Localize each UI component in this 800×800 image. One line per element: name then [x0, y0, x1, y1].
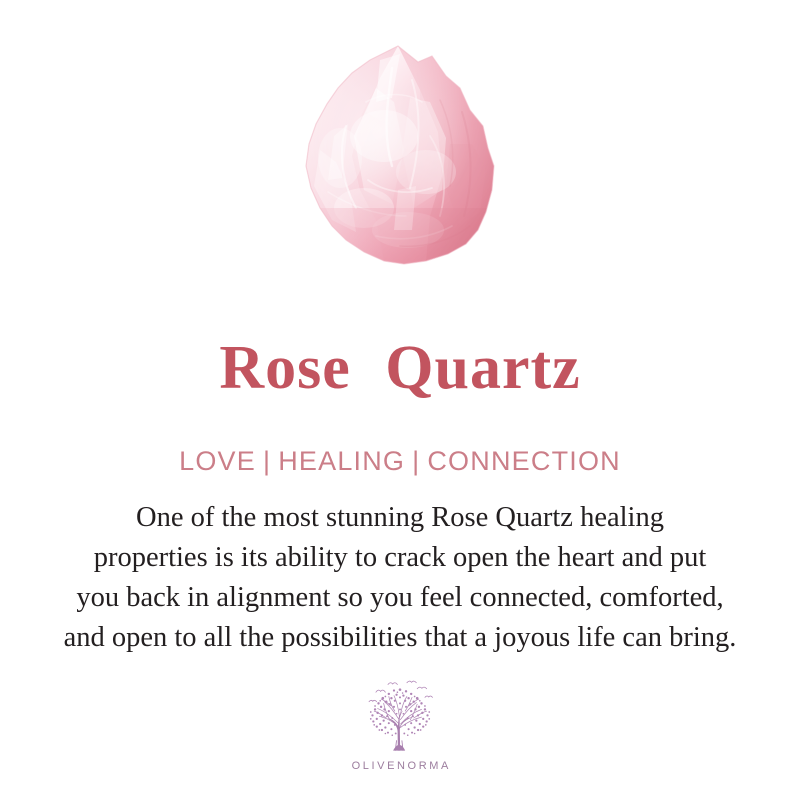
rose-quartz-crystal-icon — [280, 40, 520, 280]
keyword-separator: | — [405, 446, 427, 476]
product-keywords: LOVE|HEALING|CONNECTION — [0, 444, 800, 478]
crystal-image-container — [0, 40, 800, 290]
product-description: One of the most stunning Rose Quartz hea… — [24, 498, 776, 658]
description-line: and open to all the possibilities that a… — [24, 618, 776, 658]
crystal-body — [280, 40, 520, 280]
description-line: properties is its ability to crack open … — [24, 538, 776, 578]
bird-icons — [369, 681, 432, 702]
keyword-love: LOVE — [179, 446, 256, 476]
page-title: Rose Quartz — [0, 332, 800, 404]
description-line: One of the most stunning Rose Quartz hea… — [24, 498, 776, 538]
product-info-card: Rose Quartz LOVE|HEALING|CONNECTION One … — [0, 0, 800, 800]
brand-name: OLIVENORMA — [0, 760, 800, 772]
brand-logo: OLIVENORMA — [0, 678, 800, 772]
tree-of-life-icon — [357, 678, 443, 758]
tree-foliage — [370, 688, 430, 736]
keyword-healing: HEALING — [278, 446, 405, 476]
description-line: you back in alignment so you feel connec… — [24, 578, 776, 618]
tree-branches — [374, 696, 426, 728]
keyword-connection: CONNECTION — [427, 446, 621, 476]
keyword-separator: | — [256, 446, 278, 476]
